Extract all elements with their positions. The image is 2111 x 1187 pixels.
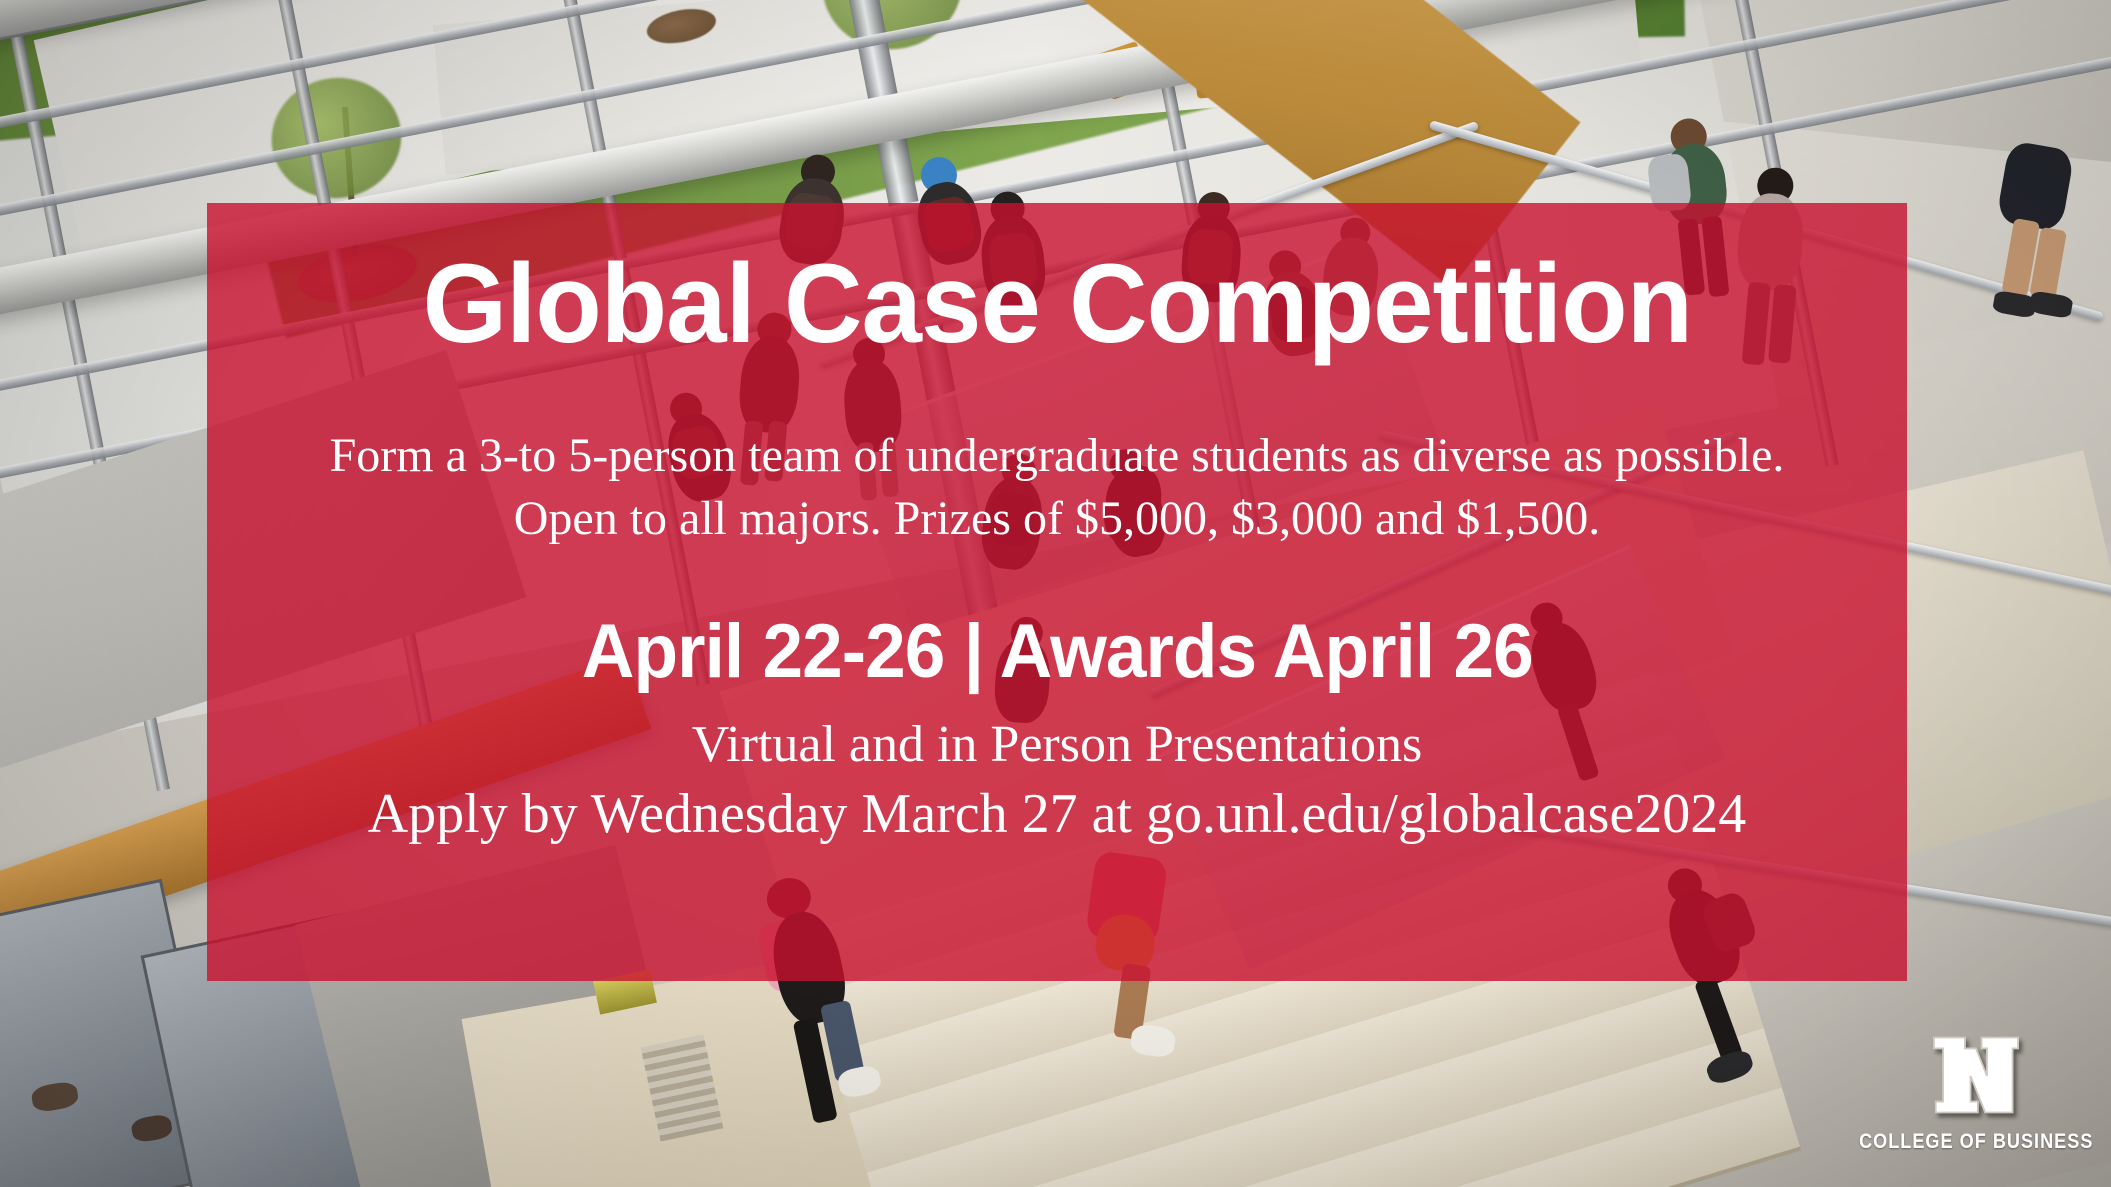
lead-line-1: Form a 3-to 5-person team of undergradua… [330,425,1785,487]
page-title: Global Case Competition [422,247,1691,361]
event-dates: April 22-26 | Awards April 26 [582,608,1533,695]
event-format: Virtual and in Person Presentations [692,715,1423,774]
lead-line-2: Open to all majors. Prizes of $5,000, $3… [330,488,1785,550]
apply-instructions: Apply by Wednesday March 27 at go.unl.ed… [368,782,1747,846]
college-of-business-wordmark: COLLEGE OF BUSINESS [1859,1130,2093,1154]
nebraska-college-of-business-logo: COLLEGE OF BUSINESS [1876,1032,2076,1180]
red-content-overlay: Global Case Competition Form a 3-to 5-pe… [207,203,1907,981]
lead-paragraph: Form a 3-to 5-person team of undergradua… [330,425,1785,550]
promotional-poster: Global Case Competition Form a 3-to 5-pe… [0,0,2111,1187]
nebraska-n-icon [1930,1032,2022,1118]
